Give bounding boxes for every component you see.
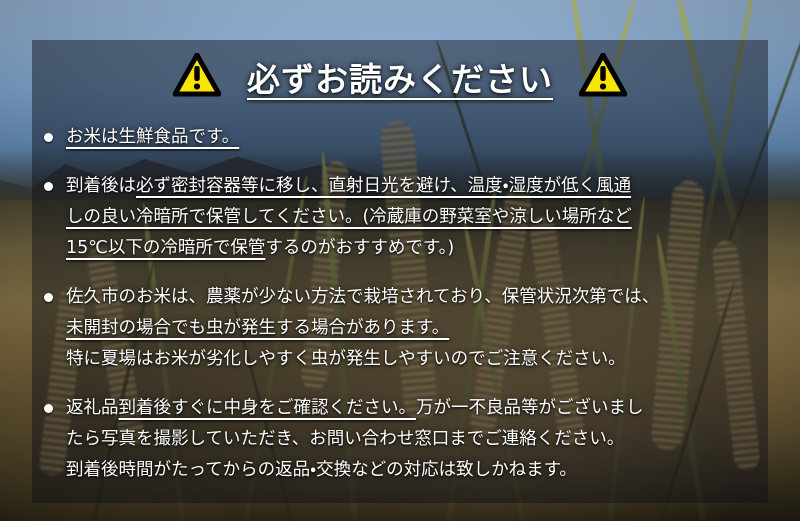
notice-text: たら写真を撮影していただき、お問い合わせ窓口までご連絡ください。 [66, 429, 624, 449]
notice-line: 到着後は必ず密封容器等に移し、直射日光を避け、温度・湿度が低く風通 [66, 171, 758, 202]
notice-line: 到着後時間がたってからの返品・交換などの対応は致しかねます。 [66, 455, 758, 486]
notice-item: 到着後は必ず密封容器等に移し、直射日光を避け、温度・湿度が低く風通しの良い冷暗所… [42, 171, 758, 264]
notice-list: お米は生鮮食品です。 到着後は必ず密封容器等に移し、直射日光を避け、温度・湿度が… [42, 122, 758, 486]
notice-screen: 必ずお読みください お米は生鮮食品です。 到着後は必ず密封容器等に移し、直射日光… [0, 0, 800, 521]
notice-line: 特に夏場はお米が劣化しやすく虫が発生しやすいのでご注意ください。 [66, 344, 758, 375]
notice-line: 返礼品到着後すぐに中身をご確認ください。万が一不良品等がございまし [66, 393, 758, 424]
notice-text: 万が一不良品等がございまし [416, 398, 644, 418]
notice-item: 佐久市のお米は、農薬が少ない方法で栽培されており、保管状況次第では、未開封の場合… [42, 282, 758, 375]
bullet-icon [44, 293, 53, 302]
bullet-icon [44, 404, 53, 413]
notice-header: 必ずお読みください [32, 44, 768, 110]
notice-text: 到着後は [66, 176, 136, 196]
notice-line: お米は生鮮食品です。 [66, 122, 758, 153]
notice-text-underlined: しの良い冷暗所で保管してください。(冷蔵庫の野菜室や涼しい場所など [66, 207, 632, 227]
notice-text-underlined: 未開封の場合でも虫が発生する場合があります。 [66, 318, 449, 338]
notice-text: 到着後時間がたってからの返品・交換などの対応は致しかねます。 [66, 460, 577, 480]
warning-triangle-icon [173, 53, 221, 101]
warning-triangle-icon [579, 53, 627, 101]
bullet-icon [44, 182, 53, 191]
notice-text: するのがおすすめです。) [265, 238, 454, 258]
notice-line: 佐久市のお米は、農薬が少ない方法で栽培されており、保管状況次第では、 [66, 282, 758, 313]
notice-text-underlined: 15℃以下の冷暗所で保管 [66, 238, 265, 258]
notice-text: 返礼品 [66, 398, 119, 418]
notice-text-underlined: 到着後すぐに中身をご確認ください。 [119, 398, 417, 418]
notice-item: お米は生鮮食品です。 [42, 122, 758, 153]
notice-line: 未開封の場合でも虫が発生する場合があります。 [66, 313, 758, 344]
notice-text-underlined: 必ず密封容器等に移し、直射日光を避け、温度・湿度が低く風通 [136, 176, 631, 196]
notice-text: 佐久市のお米は、農薬が少ない方法で栽培されており、保管状況次第では、 [66, 287, 659, 307]
notice-line: たら写真を撮影していただき、お問い合わせ窓口までご連絡ください。 [66, 424, 758, 455]
notice-text-underlined: お米は生鮮食品です。 [66, 127, 239, 147]
notice-item: 返礼品到着後すぐに中身をご確認ください。万が一不良品等がございましたら写真を撮影… [42, 393, 758, 486]
notice-line: しの良い冷暗所で保管してください。(冷蔵庫の野菜室や涼しい場所など [66, 202, 758, 233]
notice-line: 15℃以下の冷暗所で保管するのがおすすめです。) [66, 233, 758, 264]
page-title: 必ずお読みください [247, 53, 553, 101]
bullet-icon [44, 133, 53, 142]
notice-text: 特に夏場はお米が劣化しやすく虫が発生しやすいのでご注意ください。 [66, 349, 626, 369]
